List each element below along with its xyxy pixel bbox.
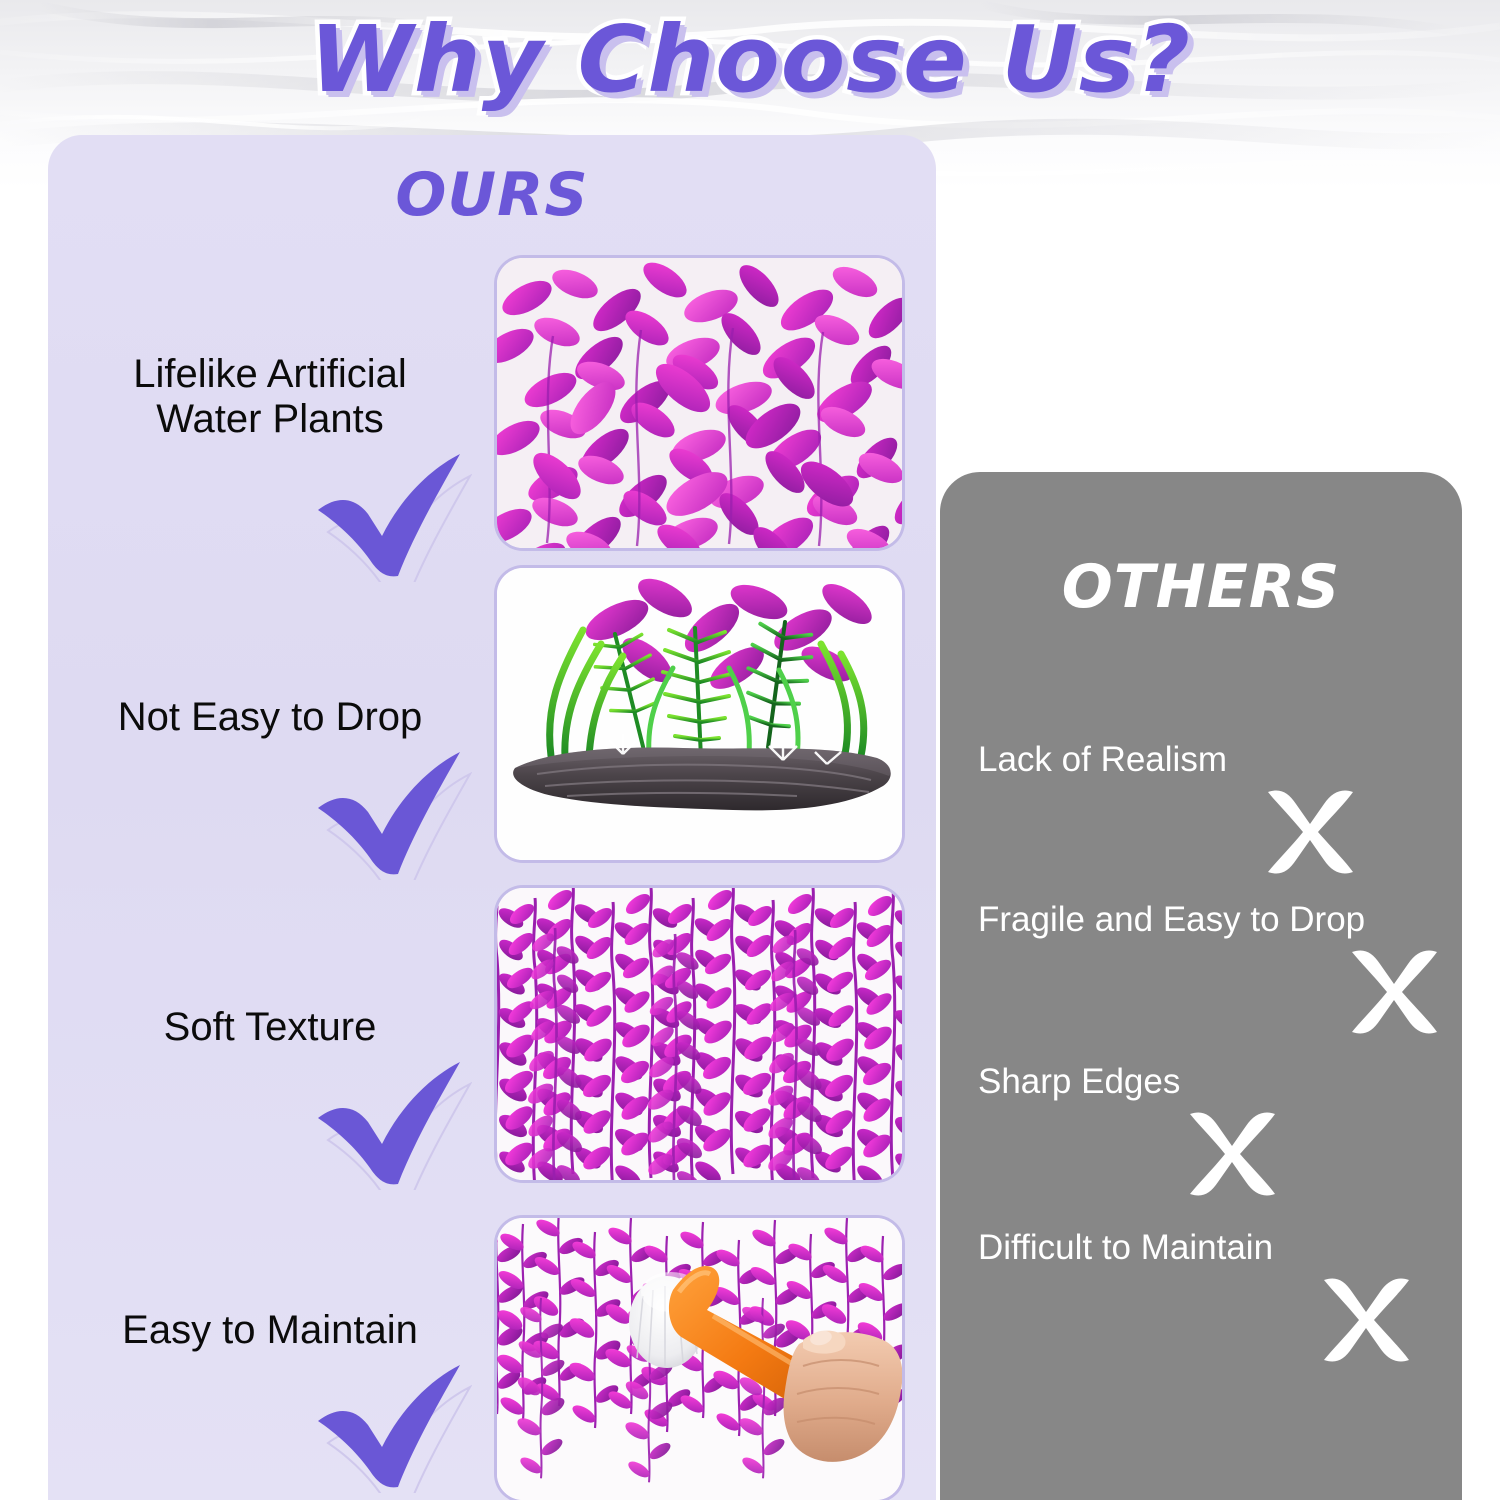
product-photo-driftwood-base bbox=[497, 568, 902, 860]
drawback-row-fragile-easy-to-drop: Fragile and Easy to Drop bbox=[978, 900, 1448, 1032]
page-title: Why Choose Us? bbox=[0, 6, 1500, 126]
drawback-label: Difficult to Maintain bbox=[978, 1228, 1448, 1268]
drawback-row-lack-of-realism: Lack of Realism bbox=[978, 740, 1448, 872]
check-icon bbox=[60, 1363, 480, 1481]
feature-label: Soft Texture bbox=[60, 1005, 480, 1050]
drawback-row-difficult-to-maintain: Difficult to Maintain bbox=[978, 1228, 1448, 1360]
ours-heading: OURS bbox=[48, 160, 936, 230]
product-photo-lifelike-leaves bbox=[497, 258, 902, 548]
check-icon bbox=[60, 750, 480, 868]
ours-heading-text: OURS bbox=[395, 160, 588, 230]
feature-row-easy-to-maintain: Easy to Maintain bbox=[60, 1308, 480, 1481]
page-title-text: Why Choose Us? bbox=[309, 6, 1191, 113]
others-heading: OTHERS bbox=[940, 552, 1462, 622]
drawback-label: Fragile and Easy to Drop bbox=[978, 900, 1448, 940]
drawback-row-sharp-edges: Sharp Edges bbox=[978, 1062, 1448, 1194]
others-heading-text: OTHERS bbox=[1062, 552, 1341, 622]
feature-row-soft-texture: Soft Texture bbox=[60, 1005, 480, 1178]
check-icon bbox=[60, 1060, 480, 1178]
drawback-label: Lack of Realism bbox=[978, 740, 1448, 780]
cross-icon bbox=[978, 1268, 1448, 1360]
cross-icon bbox=[978, 940, 1448, 1032]
product-photo-soft-texture-stalks bbox=[497, 888, 902, 1180]
feature-label: Not Easy to Drop bbox=[60, 695, 480, 740]
feature-label: Easy to Maintain bbox=[60, 1308, 480, 1353]
infographic-root: Why Choose Us? OURS OTHERS Lifelike Arti… bbox=[0, 0, 1500, 1500]
feature-row-not-easy-to-drop: Not Easy to Drop bbox=[60, 695, 480, 868]
drawback-label: Sharp Edges bbox=[978, 1062, 1448, 1102]
check-icon bbox=[60, 452, 480, 570]
feature-label: Lifelike Artificial Water Plants bbox=[60, 352, 480, 442]
cross-icon bbox=[978, 1102, 1448, 1194]
cross-icon bbox=[978, 780, 1448, 872]
product-photo-easy-maintain-brush bbox=[497, 1218, 902, 1500]
feature-row-lifelike: Lifelike Artificial Water Plants bbox=[60, 352, 480, 570]
